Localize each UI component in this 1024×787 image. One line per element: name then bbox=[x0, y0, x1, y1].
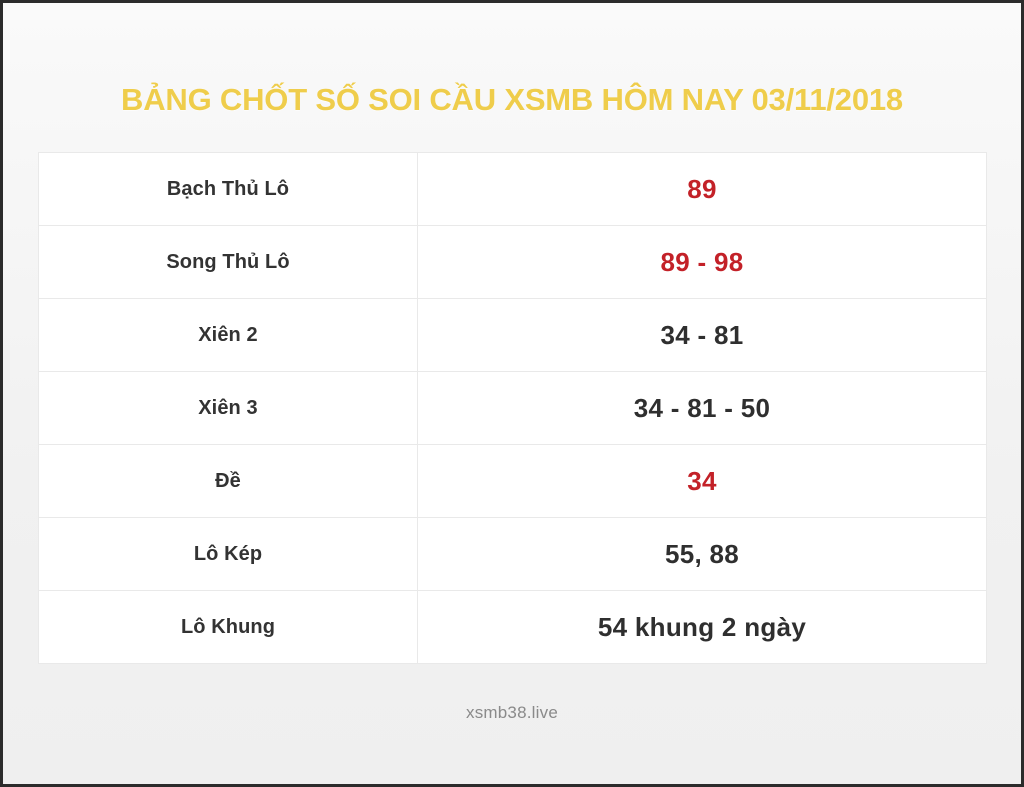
page-frame: BẢNG CHỐT SỐ SOI CẦU XSMB HÔM NAY 03/11/… bbox=[3, 3, 1021, 784]
table-row: Bạch Thủ Lô 89 bbox=[39, 153, 987, 226]
row-value: 54 khung 2 ngày bbox=[418, 591, 987, 664]
table-body: Bạch Thủ Lô 89 Song Thủ Lô 89 - 98 Xiên … bbox=[39, 153, 987, 664]
row-label: Bạch Thủ Lô bbox=[39, 153, 418, 226]
row-value: 55, 88 bbox=[418, 518, 987, 591]
row-value: 34 - 81 - 50 bbox=[418, 372, 987, 445]
table-row: Đề 34 bbox=[39, 445, 987, 518]
soi-cau-table: Bạch Thủ Lô 89 Song Thủ Lô 89 - 98 Xiên … bbox=[38, 152, 987, 664]
row-label: Đề bbox=[39, 445, 418, 518]
table-row: Xiên 2 34 - 81 bbox=[39, 299, 987, 372]
row-value: 34 - 81 bbox=[418, 299, 987, 372]
table-row: Lô Khung 54 khung 2 ngày bbox=[39, 591, 987, 664]
row-label: Xiên 2 bbox=[39, 299, 418, 372]
site-watermark: xsmb38.live bbox=[3, 703, 1021, 723]
table-row: Song Thủ Lô 89 - 98 bbox=[39, 226, 987, 299]
row-label: Xiên 3 bbox=[39, 372, 418, 445]
row-value: 89 - 98 bbox=[418, 226, 987, 299]
row-label: Lô Khung bbox=[39, 591, 418, 664]
row-value: 89 bbox=[418, 153, 987, 226]
row-value: 34 bbox=[418, 445, 987, 518]
row-label: Song Thủ Lô bbox=[39, 226, 418, 299]
page-title: BẢNG CHỐT SỐ SOI CẦU XSMB HÔM NAY 03/11/… bbox=[3, 82, 1021, 118]
table-row: Xiên 3 34 - 81 - 50 bbox=[39, 372, 987, 445]
table-row: Lô Kép 55, 88 bbox=[39, 518, 987, 591]
row-label: Lô Kép bbox=[39, 518, 418, 591]
